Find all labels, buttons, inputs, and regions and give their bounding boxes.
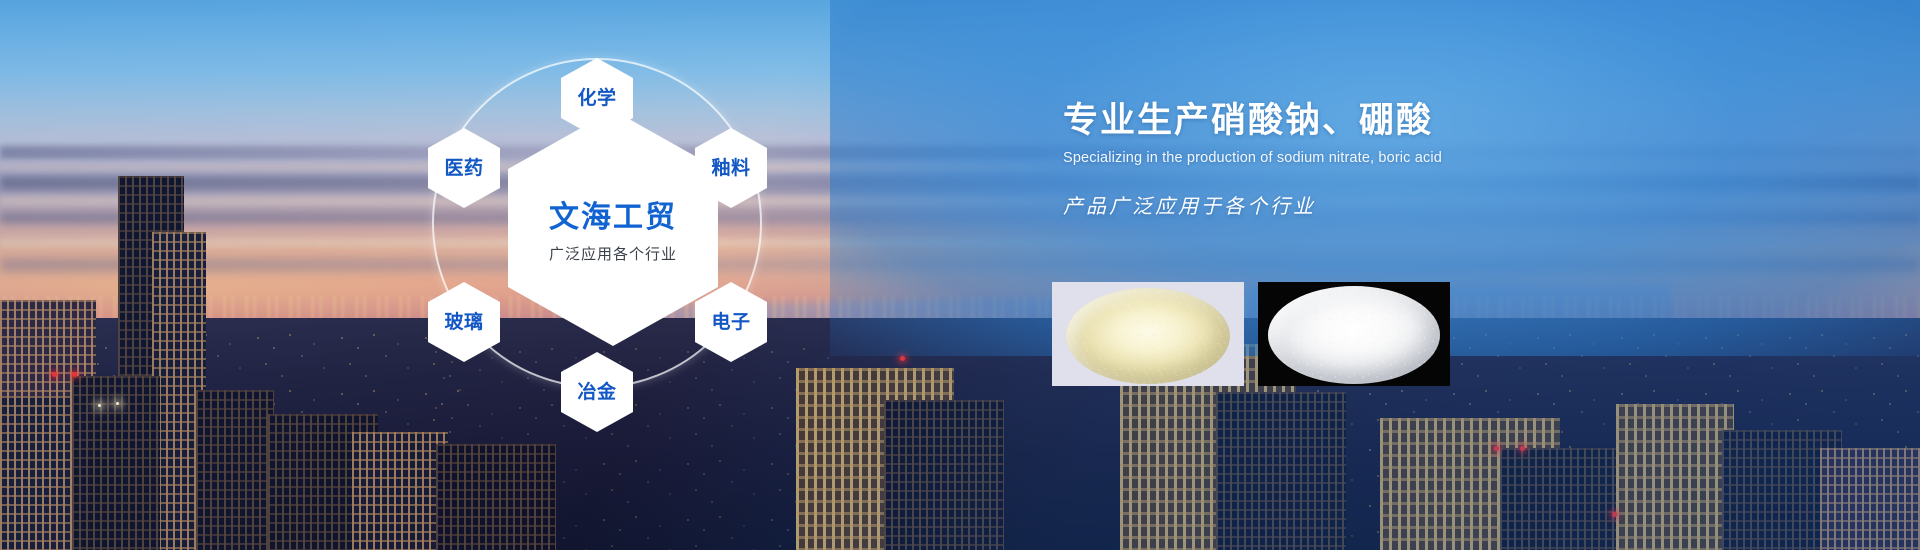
company-name: 文海工贸 <box>549 192 677 236</box>
product-photo-sodium-nitrate <box>1052 282 1244 386</box>
building <box>884 400 1004 550</box>
product-photo-boric-acid <box>1258 282 1450 386</box>
warning-light <box>1494 446 1499 451</box>
warning-light <box>1520 446 1525 451</box>
building <box>0 396 70 550</box>
warning-light <box>72 372 77 377</box>
hex-label: 冶金 <box>577 383 616 402</box>
company-tagline: 广泛应用各个行业 <box>549 243 677 264</box>
subheadline-english: Specializing in the production of sodium… <box>1063 150 1863 166</box>
powder-pile <box>1268 286 1440 384</box>
marketing-copy: 专业生产硝酸钠、硼酸 Specializing in the productio… <box>1063 101 1863 219</box>
building <box>352 432 448 550</box>
warning-light <box>1612 512 1617 517</box>
hex-label: 玻璃 <box>444 313 483 332</box>
building <box>1216 392 1346 550</box>
powder-pile <box>1066 288 1230 384</box>
building <box>1616 404 1734 550</box>
tagline: 产品广泛应用于各个行业 <box>1063 190 1863 219</box>
building <box>1820 448 1920 550</box>
cloud-streak <box>0 238 1920 247</box>
hex-label: 化学 <box>577 89 616 108</box>
warning-light <box>52 372 57 377</box>
building <box>436 444 556 550</box>
warning-light <box>900 356 905 361</box>
cloud-streak <box>0 258 1920 272</box>
hex-label: 电子 <box>711 313 750 332</box>
building <box>196 390 274 550</box>
headline: 专业生产硝酸钠、硼酸 <box>1063 101 1863 141</box>
promo-banner: 文海工贸 广泛应用各个行业 化学 釉料 电子 冶金 玻璃 医药 专业生产硝酸钠、… <box>0 0 1920 550</box>
building <box>1500 448 1630 550</box>
hex-label: 釉料 <box>711 159 750 178</box>
rooftop-light <box>98 404 101 407</box>
hex-label: 医药 <box>444 159 483 178</box>
industry-hex-diagram: 文海工贸 广泛应用各个行业 化学 釉料 电子 冶金 玻璃 医药 <box>424 20 844 440</box>
rooftop-light <box>116 402 119 405</box>
